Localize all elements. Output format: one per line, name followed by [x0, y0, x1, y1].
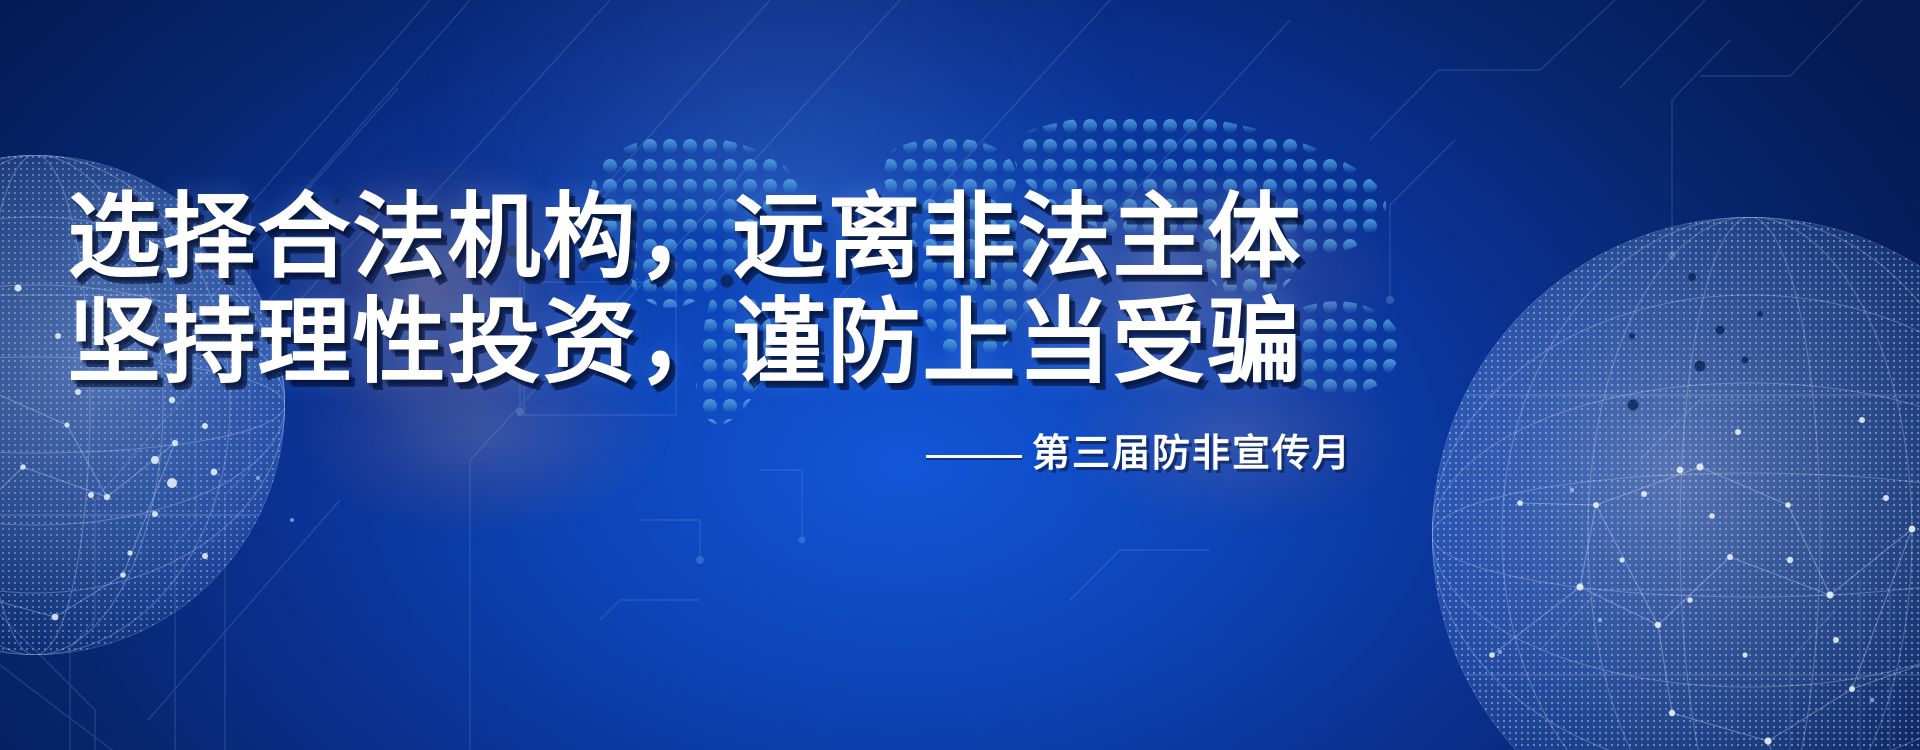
headline-line-2: 坚持理性投资，谨防上当受骗: [0, 290, 1370, 395]
attribution-rule-icon: [926, 455, 1022, 458]
promo-banner: 选择合法机构，远离非法主体 坚持理性投资，谨防上当受骗 第三届防非宣传月: [0, 0, 1920, 750]
attribution-block: 第三届防非宣传月: [0, 432, 1352, 476]
headline-block: 选择合法机构，远离非法主体 坚持理性投资，谨防上当受骗: [0, 185, 1370, 395]
attribution-text: 第三届防非宣传月: [1032, 432, 1352, 476]
headline-line-1: 选择合法机构，远离非法主体: [0, 185, 1370, 290]
